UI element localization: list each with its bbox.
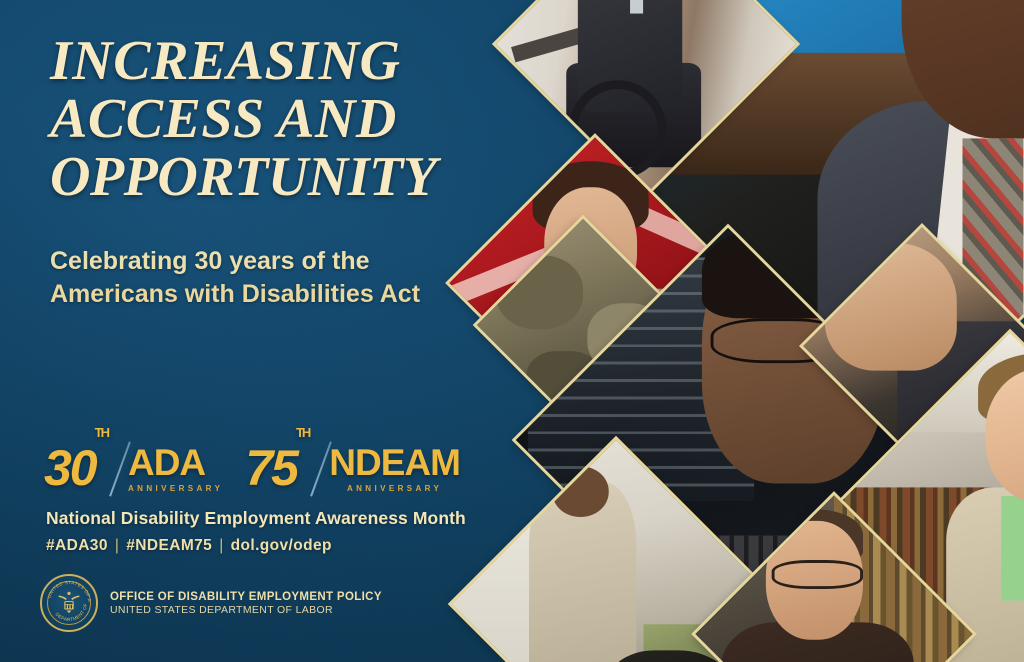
- headline-line-2: ACCESS AND: [50, 90, 480, 148]
- subtitle: Celebrating 30 years of the Americans wi…: [50, 245, 480, 311]
- ndeam-anniversary-number: 75TH: [245, 443, 311, 493]
- headline-line-1: INCREASING: [50, 32, 480, 90]
- ada-ordinal-suffix: TH: [95, 425, 108, 440]
- ndeam-anniversary-label: ANNIVERSARY: [329, 484, 460, 493]
- tag-separator-2: |: [219, 537, 223, 554]
- headline-line-3: OPPORTUNITY: [50, 148, 480, 206]
- odep-url[interactable]: dol.gov/odep: [231, 537, 332, 554]
- svg-text:UNITED STATES OF AMERICA: UNITED STATES OF AMERICA: [42, 576, 92, 603]
- ndeam-name: NDEAM: [329, 443, 460, 483]
- ndeam-full-name: National Disability Employment Awareness…: [46, 508, 466, 529]
- ndeam-poster: INCREASING ACCESS AND OPPORTUNITY Celebr…: [0, 0, 1024, 662]
- text-panel: INCREASING ACCESS AND OPPORTUNITY Celebr…: [0, 0, 500, 662]
- subtitle-line-2: Americans with Disabilities Act: [50, 278, 480, 311]
- agency-lockup: UNITED STATES OF AMERICA DEPARTMENT OF L…: [40, 574, 382, 632]
- ndeam-anniversary-lockup: 75TH NDEAM ANNIVERSARY: [245, 443, 460, 495]
- ndeam-wordmark: NDEAM ANNIVERSARY: [329, 443, 460, 493]
- ada-anniversary-lockup: 30TH ADA ANNIVERSARY: [44, 443, 223, 495]
- tag-separator-1: |: [115, 537, 119, 554]
- hashtag-ndeam75: #NDEAM75: [126, 537, 212, 554]
- agency-department-name: UNITED STATES DEPARTMENT OF LABOR: [110, 604, 382, 617]
- agency-text: OFFICE OF DISABILITY EMPLOYMENT POLICY U…: [110, 590, 382, 617]
- agency-office-name: OFFICE OF DISABILITY EMPLOYMENT POLICY: [110, 590, 382, 604]
- page-title: INCREASING ACCESS AND OPPORTUNITY: [50, 32, 480, 207]
- ada-number-text: 30: [44, 440, 96, 496]
- ndeam-ordinal-suffix: TH: [296, 425, 309, 440]
- ada-anniversary-label: ANNIVERSARY: [128, 484, 223, 493]
- anniversary-lockups: 30TH ADA ANNIVERSARY 75TH NDEAM ANNIVERS…: [44, 443, 460, 505]
- ada-name: ADA: [128, 443, 223, 483]
- ada-slash-icon: [110, 443, 132, 495]
- ndeam-slash-icon: [311, 443, 333, 495]
- dol-seal-icon: UNITED STATES OF AMERICA DEPARTMENT OF L…: [40, 574, 98, 632]
- subtitle-line-1: Celebrating 30 years of the: [50, 245, 480, 278]
- hashtags-and-url: #ADA30|#NDEAM75|dol.gov/odep: [46, 537, 332, 555]
- ada-wordmark: ADA ANNIVERSARY: [128, 443, 223, 493]
- hashtag-ada30: #ADA30: [46, 537, 108, 554]
- ndeam-number-text: 75: [245, 440, 297, 496]
- ada-anniversary-number: 30TH: [44, 443, 110, 493]
